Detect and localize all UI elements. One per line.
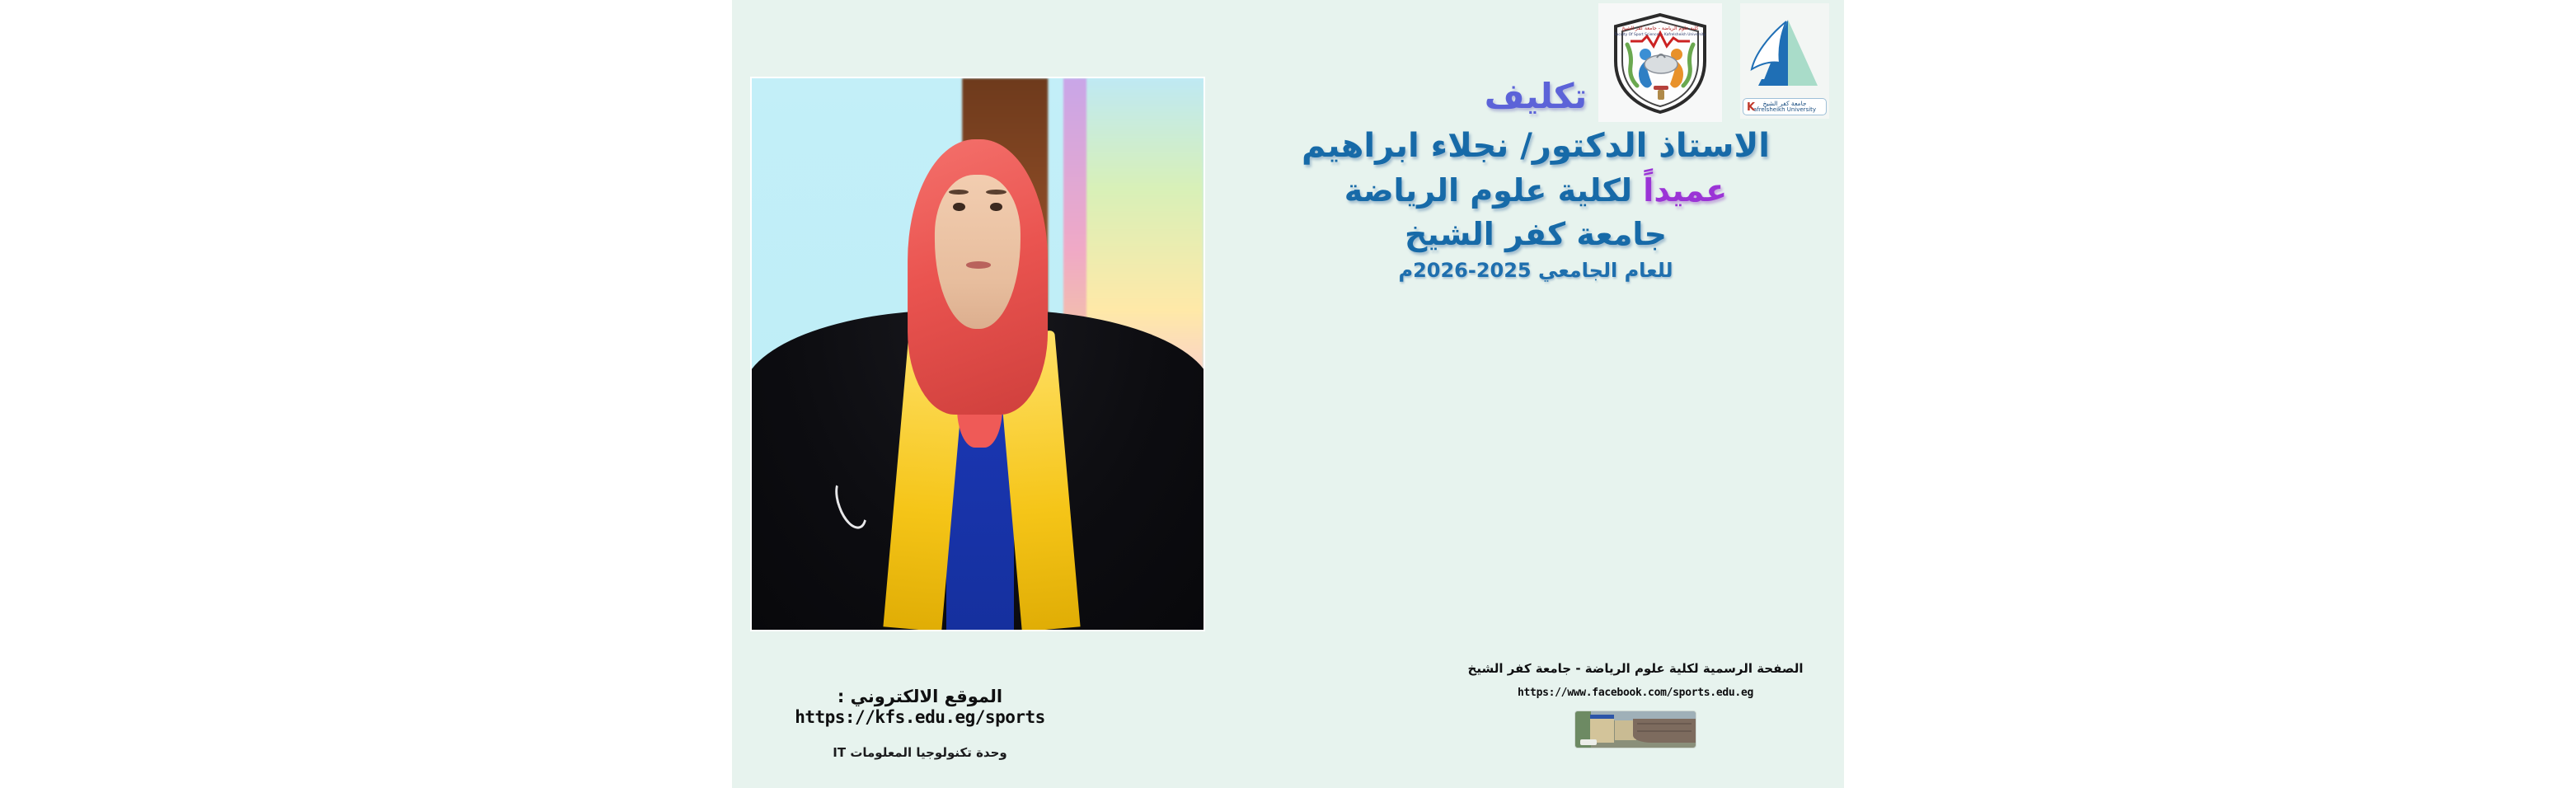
- page-canvas: K جامعة كفر الشيخ afrelsheikh University: [0, 0, 2576, 788]
- contact-right-block: الصفحة الرسمية لكلية علوم الرياضة - جامع…: [1450, 659, 1821, 748]
- svg-text:Faculty Of Sport Sciences - Ka: Faculty Of Sport Sciences - Kafrelsheikh…: [1615, 32, 1706, 37]
- headline-year: للعام الجامعي 2025-2026م: [1247, 259, 1824, 282]
- headline-role: عميداً لكلية علوم الرياضة: [1247, 172, 1824, 209]
- it-unit-credit: وحدة تكنولوجيا المعلومات IT: [745, 745, 1095, 760]
- portrait-mouth: [966, 261, 992, 269]
- announcement-poster: K جامعة كفر الشيخ afrelsheikh University: [732, 0, 1844, 788]
- facebook-page-title: الصفحة الرسمية لكلية علوم الرياضة - جامع…: [1450, 659, 1821, 678]
- dean-portrait: [750, 77, 1205, 631]
- svg-text:كلية علوم الرياضة - جامعة كفر: كلية علوم الرياضة - جامعة كفر الشيخ: [1621, 26, 1698, 31]
- headline-name: الاستاذ الدكتور/ نجلاء ابراهيم: [1247, 127, 1824, 166]
- website-url[interactable]: https://kfs.edu.eg/sports: [745, 707, 1095, 727]
- headline-kalif: تكليف: [1247, 76, 1824, 117]
- contact-left-block: الموقع الالكتروني : https://kfs.edu.eg/s…: [745, 686, 1095, 760]
- headline-role-rest: لكلية علوم الرياضة: [1344, 172, 1632, 209]
- headline-block: تكليف الاستاذ الدكتور/ نجلاء ابراهيم عمي…: [1247, 76, 1824, 283]
- portrait-eyebrow-right: [986, 190, 1006, 195]
- headline-role-accent: عميداً: [1643, 172, 1727, 209]
- portrait-eye-left: [953, 203, 964, 212]
- portrait-eye-right: [990, 203, 1002, 212]
- website-label: الموقع الالكتروني :: [745, 686, 1095, 707]
- headline-university: جامعة كفر الشيخ: [1247, 216, 1824, 253]
- facebook-page-url[interactable]: https://www.facebook.com/sports.edu.eg: [1450, 687, 1821, 699]
- campus-parking-lot: [1633, 719, 1696, 743]
- campus-photo-badge: [1580, 739, 1597, 745]
- campus-aerial-photo: [1574, 711, 1696, 748]
